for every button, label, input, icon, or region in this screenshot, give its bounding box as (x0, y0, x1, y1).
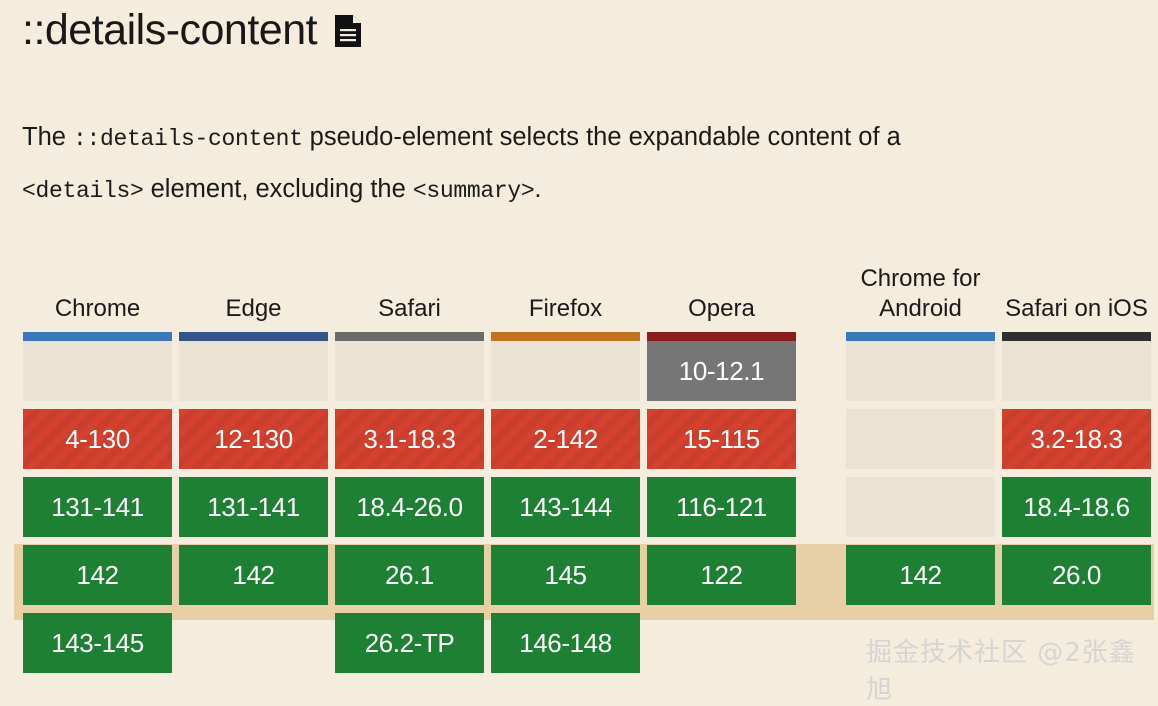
version-cell-safari-4[interactable]: 26.2-TP (335, 613, 484, 673)
version-cell-firefox-1[interactable]: 2-142 (491, 409, 640, 469)
version-cells-opera: 10-12.115-115116-121122 (647, 341, 796, 673)
description-code-details: <details> (22, 178, 144, 204)
version-cell-chrome-android-2[interactable] (846, 477, 995, 537)
version-cell-firefox-2[interactable]: 143-144 (491, 477, 640, 537)
version-cell-chrome-2[interactable]: 131-141 (23, 477, 172, 537)
version-cells-firefox: 2-142143-144145146-148 (491, 341, 640, 673)
version-cells-chrome: 4-130131-141142143-145 (23, 341, 172, 673)
brand-color-bar-edge (179, 332, 328, 341)
document-icon (335, 15, 361, 47)
description-part-3: element, excluding the (144, 175, 413, 203)
description-code-summary: <summary> (413, 178, 535, 204)
browser-column-safari-ios: Safari on iOS3.2-18.318.4-18.626.0 (1002, 228, 1151, 681)
version-cells-safari: 3.1-18.318.4-26.026.126.2-TP (335, 341, 484, 673)
version-cell-edge-3-current[interactable]: 142 (179, 545, 328, 605)
browser-name-firefox: Firefox (527, 294, 604, 324)
version-cells-edge: 12-130131-141142 (179, 341, 328, 673)
browser-column-header-safari: Safari (335, 228, 484, 328)
browser-name-opera: Opera (686, 294, 757, 324)
brand-color-bar-safari (335, 332, 484, 341)
brand-color-bar-chrome (23, 332, 172, 341)
version-cell-opera-2[interactable]: 116-121 (647, 477, 796, 537)
version-cell-safari-ios-3-current[interactable]: 26.0 (1002, 545, 1151, 605)
browser-support-table: Chrome4-130131-141142143-145Edge12-13013… (0, 228, 1158, 684)
version-cells-chrome-android: 142 (846, 341, 995, 673)
version-cell-chrome-3-current[interactable]: 142 (23, 545, 172, 605)
browser-column-edge: Edge12-130131-141142 (179, 228, 328, 681)
browser-column-header-chrome: Chrome (23, 228, 172, 328)
browser-name-chrome: Chrome (53, 294, 142, 324)
version-cell-safari-ios-0[interactable] (1002, 341, 1151, 401)
browser-column-chrome-android: Chrome for Android142 (846, 228, 995, 681)
browser-column-safari: Safari3.1-18.318.4-26.026.126.2-TP (335, 228, 484, 681)
browser-column-header-edge: Edge (179, 228, 328, 328)
version-cell-safari-2[interactable]: 18.4-26.0 (335, 477, 484, 537)
browser-column-firefox: Firefox2-142143-144145146-148 (491, 228, 640, 681)
version-cell-firefox-0[interactable] (491, 341, 640, 401)
browser-column-opera: Opera10-12.115-115116-121122 (647, 228, 796, 681)
version-cell-firefox-3-current[interactable]: 145 (491, 545, 640, 605)
brand-color-bar-safari-ios (1002, 332, 1151, 341)
description-code-details-content: ::details-content (73, 126, 303, 152)
browser-column-header-chrome-android: Chrome for Android (846, 228, 995, 328)
brand-color-bar-chrome-android (846, 332, 995, 341)
browser-name-chrome-android: Chrome for Android (846, 264, 995, 324)
version-cell-safari-1[interactable]: 3.1-18.3 (335, 409, 484, 469)
version-cell-opera-1[interactable]: 15-115 (647, 409, 796, 469)
version-cell-chrome-android-1[interactable] (846, 409, 995, 469)
version-cell-chrome-android-4 (846, 613, 995, 673)
page-title-row: ::details-content (22, 6, 361, 55)
browser-name-safari-ios: Safari on iOS (1003, 294, 1150, 324)
version-cell-chrome-android-3-current[interactable]: 142 (846, 545, 995, 605)
version-cell-chrome-1[interactable]: 4-130 (23, 409, 172, 469)
browser-column-chrome: Chrome4-130131-141142143-145 (23, 228, 172, 681)
description-part-2: pseudo-element selects the expandable co… (303, 123, 901, 151)
browser-column-header-safari-ios: Safari on iOS (1002, 228, 1151, 328)
version-cell-chrome-android-0[interactable] (846, 341, 995, 401)
version-cell-edge-1[interactable]: 12-130 (179, 409, 328, 469)
version-cell-firefox-4[interactable]: 146-148 (491, 613, 640, 673)
page-description: The ::details-content pseudo-element sel… (22, 112, 1002, 216)
browser-column-header-firefox: Firefox (491, 228, 640, 328)
version-cell-edge-0[interactable] (179, 341, 328, 401)
browser-column-header-opera: Opera (647, 228, 796, 328)
version-cell-edge-2[interactable]: 131-141 (179, 477, 328, 537)
version-cell-chrome-4[interactable]: 143-145 (23, 613, 172, 673)
description-part-1: The (22, 123, 73, 151)
brand-color-bar-firefox (491, 332, 640, 341)
version-cell-safari-3-current[interactable]: 26.1 (335, 545, 484, 605)
browser-name-edge: Edge (223, 294, 283, 324)
version-cell-opera-0[interactable]: 10-12.1 (647, 341, 796, 401)
version-cell-opera-4 (647, 613, 796, 673)
version-cell-edge-4 (179, 613, 328, 673)
version-cells-safari-ios: 3.2-18.318.4-18.626.0 (1002, 341, 1151, 673)
page-title: ::details-content (22, 6, 317, 55)
brand-color-bar-opera (647, 332, 796, 341)
browser-name-safari: Safari (376, 294, 443, 324)
version-cell-safari-ios-2[interactable]: 18.4-18.6 (1002, 477, 1151, 537)
version-cell-opera-3-current[interactable]: 122 (647, 545, 796, 605)
version-cell-safari-ios-4 (1002, 613, 1151, 673)
version-cell-safari-ios-1[interactable]: 3.2-18.3 (1002, 409, 1151, 469)
description-part-4: . (534, 175, 541, 203)
version-cell-chrome-0[interactable] (23, 341, 172, 401)
version-cell-safari-0[interactable] (335, 341, 484, 401)
